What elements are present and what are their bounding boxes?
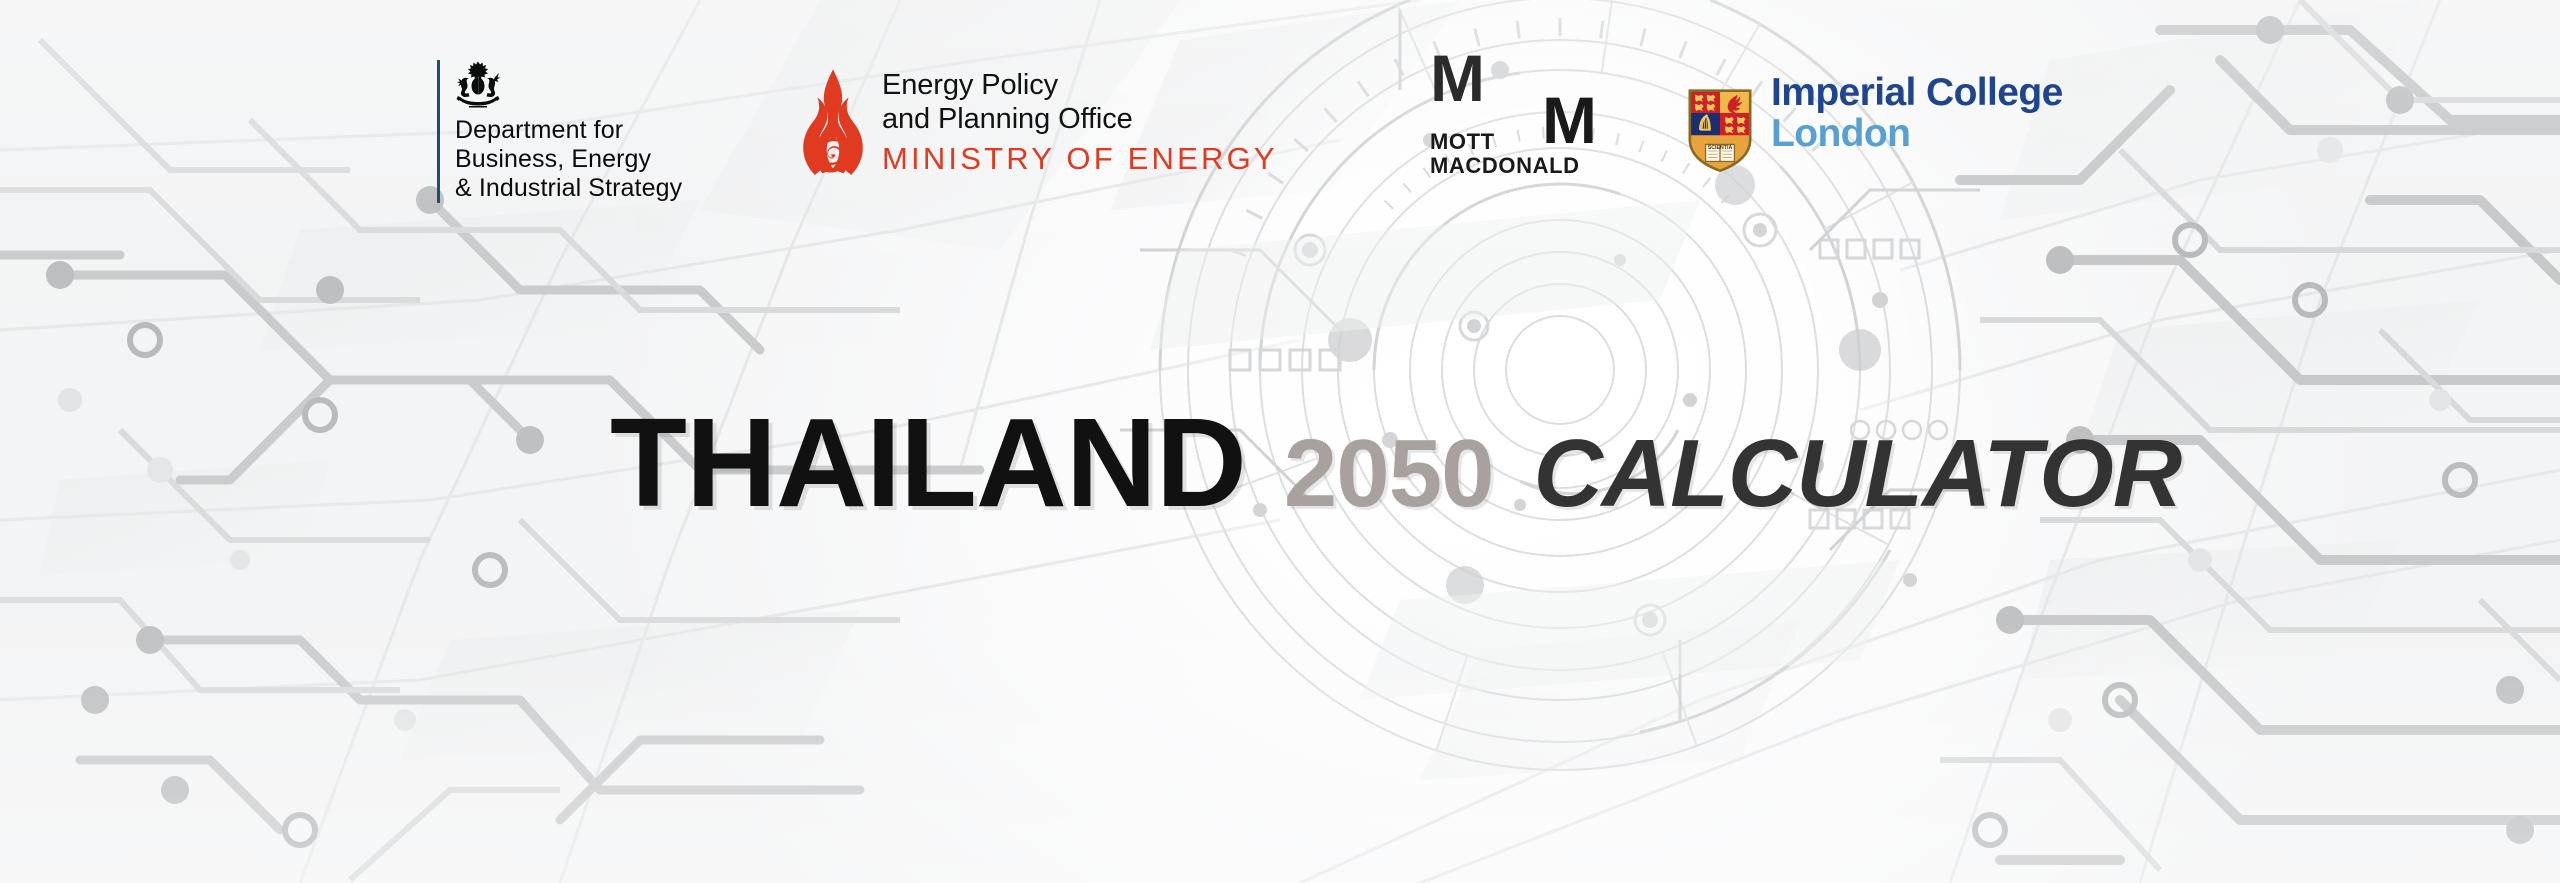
- mott-macdonald-wordmark: MOTT MACDONALD: [1430, 130, 1580, 178]
- thai-flame-icon: [800, 69, 866, 177]
- logo-mott-macdonald[interactable]: M M MOTT MACDONALD: [1430, 48, 1620, 168]
- uk-royal-coat-of-arms-icon: [455, 60, 501, 110]
- imperial-crest-motto: SCIENTIA: [1708, 145, 1733, 151]
- partner-logo-strip: Department for Business, Energy & Indust…: [0, 0, 2560, 210]
- imperial-line2: London: [1771, 113, 2063, 154]
- imperial-college-shield-icon: SCIENTIA: [1687, 88, 1753, 172]
- hero-year-title: 2050: [1284, 426, 1494, 522]
- logo-imperial-college-london[interactable]: SCIENTIA Imperial College London: [1687, 58, 2063, 172]
- mott-macdonald-mark-m1: M: [1430, 48, 1483, 108]
- hero-country-title: THAILAND: [610, 400, 1246, 526]
- hero-tool-title: CALCULATOR: [1533, 426, 2181, 522]
- beis-vertical-rule: [437, 60, 440, 203]
- hero-title-block: THAILAND 2050 CALCULATOR: [0, 400, 2560, 600]
- logo-energy-policy-planning-office[interactable]: Energy Policy and Planning Office MINIST…: [800, 68, 1278, 177]
- logo-beis[interactable]: Department for Business, Energy & Indust…: [437, 60, 682, 203]
- eppo-ministry-label: MINISTRY OF ENERGY: [882, 141, 1278, 177]
- thailand-2050-calculator-banner: Department for Business, Energy & Indust…: [0, 0, 2560, 883]
- imperial-line1: Imperial College: [1771, 72, 2063, 113]
- beis-wordmark: Department for Business, Energy & Indust…: [455, 116, 682, 203]
- eppo-title: Energy Policy and Planning Office: [882, 68, 1278, 136]
